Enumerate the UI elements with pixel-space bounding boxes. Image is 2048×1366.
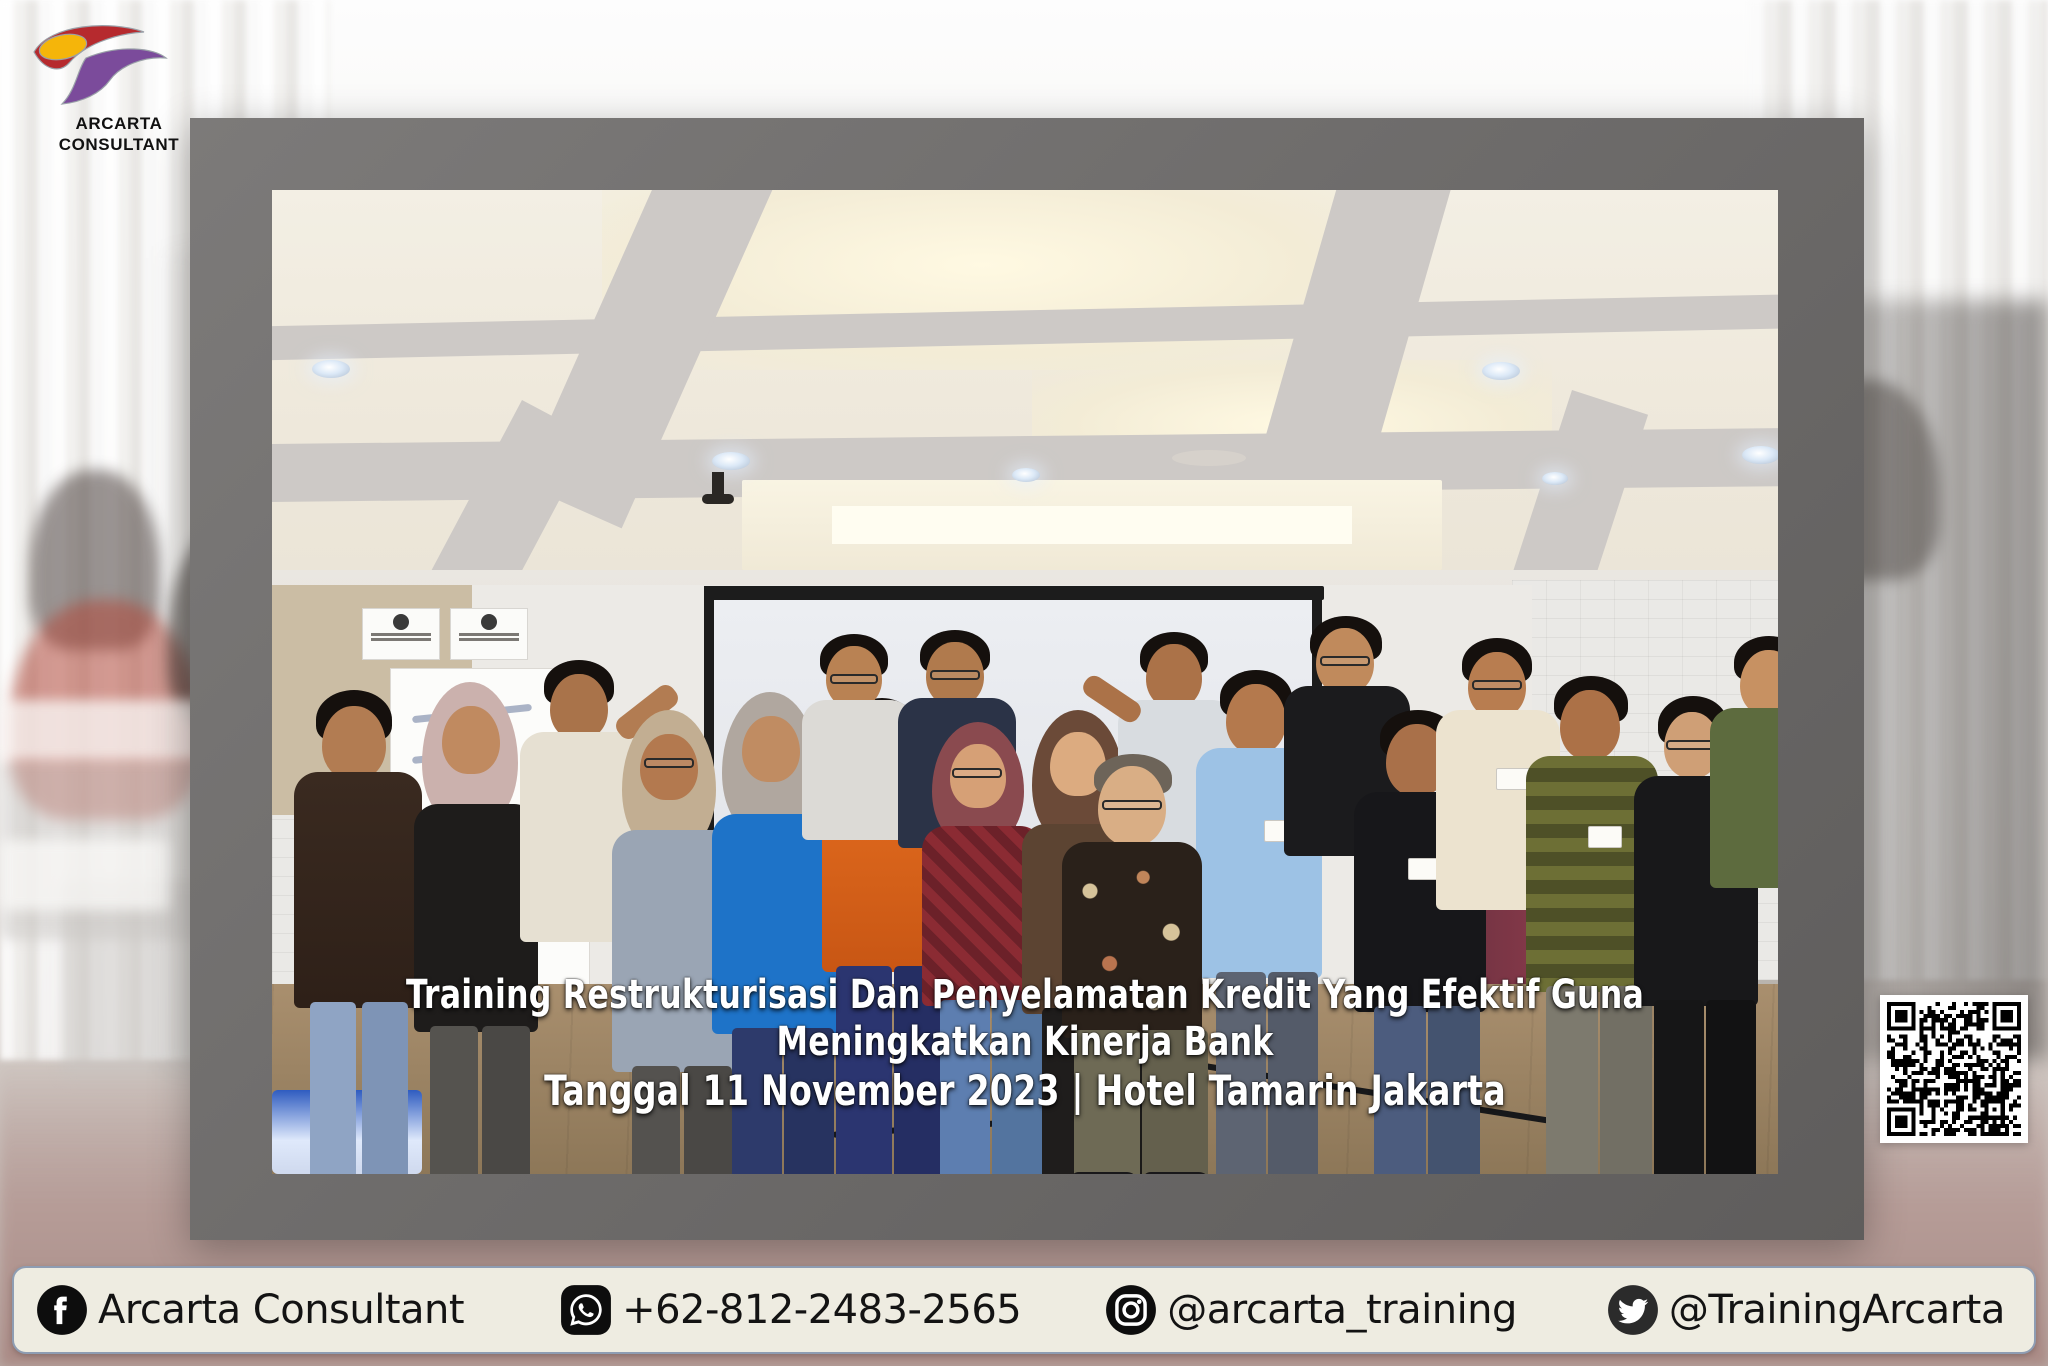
- legs: [940, 1000, 990, 1174]
- torso: [712, 814, 838, 1034]
- wifi-icon: [393, 614, 409, 630]
- arcarta-logo: ARCARTA CONSULTANT: [24, 18, 214, 168]
- wifi-icon: [481, 614, 497, 630]
- head: [442, 706, 500, 774]
- wifi-info-card: [450, 608, 528, 660]
- legs: [1654, 1000, 1704, 1174]
- background-table: [0, 840, 170, 910]
- downlight-icon: [1742, 446, 1778, 464]
- glasses-icon: [644, 758, 694, 768]
- ceiling-panel-inset: [832, 506, 1352, 544]
- footer-item-instagram[interactable]: @arcarta_training: [1105, 1284, 1517, 1336]
- legs: [1546, 986, 1598, 1174]
- downlight-icon: [1012, 468, 1040, 482]
- logo-line-2: CONSULTANT: [59, 135, 180, 154]
- legs: [1600, 986, 1652, 1174]
- legs: [1074, 1030, 1140, 1174]
- torso: [1062, 842, 1202, 1038]
- glasses-icon: [830, 674, 878, 684]
- legs: [310, 1002, 356, 1174]
- glasses-icon: [952, 768, 1002, 778]
- name-badge: [1588, 826, 1622, 848]
- head: [322, 706, 386, 780]
- wifi-password-line: [459, 638, 519, 641]
- footer-item-whatsapp[interactable]: +62-812-2483-2565: [560, 1284, 1021, 1336]
- head: [1146, 644, 1202, 708]
- instagram-icon[interactable]: [1105, 1284, 1157, 1336]
- contact-footer-bar: Arcarta Consultant +62-812-2483-2565 @ar…: [12, 1266, 2036, 1354]
- legs: [992, 1000, 1042, 1174]
- head: [742, 716, 800, 782]
- glasses-icon: [1102, 800, 1162, 810]
- head: [1226, 684, 1286, 754]
- shoe: [1142, 1172, 1210, 1174]
- legs: [784, 1028, 834, 1174]
- legs: [1142, 1030, 1208, 1174]
- glasses-icon: [1472, 680, 1522, 690]
- footer-item-twitter[interactable]: @TrainingArcarta: [1607, 1284, 2005, 1336]
- logo-swoosh-icon: [24, 18, 214, 118]
- legs: [836, 966, 892, 1174]
- legs: [632, 1066, 680, 1174]
- footer-label-facebook: Arcarta Consultant: [98, 1287, 464, 1333]
- shoe: [1070, 1172, 1138, 1174]
- downlight-icon: [712, 452, 750, 470]
- legs: [1428, 1006, 1480, 1174]
- head: [550, 674, 608, 740]
- projector-screen-housing: [704, 586, 1324, 600]
- wifi-info-card: [362, 608, 440, 660]
- footer-label-instagram: @arcarta_training: [1167, 1287, 1517, 1333]
- ceiling-projector-mount: [702, 494, 734, 504]
- torso: [1710, 708, 1778, 888]
- legs: [732, 1028, 782, 1174]
- downlight-icon: [1542, 472, 1568, 485]
- torso: [294, 772, 422, 1008]
- name-badge: [1496, 768, 1530, 790]
- footer-item-facebook[interactable]: Arcarta Consultant: [36, 1284, 464, 1336]
- glasses-icon: [1666, 740, 1716, 750]
- downlight-icon: [1482, 362, 1520, 380]
- facebook-icon[interactable]: [36, 1284, 88, 1336]
- logo-text: ARCARTA CONSULTANT: [24, 114, 214, 155]
- legs: [482, 1026, 530, 1174]
- footer-label-whatsapp: +62-812-2483-2565: [622, 1287, 1021, 1333]
- wifi-password-line: [371, 638, 431, 641]
- legs: [1268, 972, 1318, 1174]
- legs: [1374, 1006, 1426, 1174]
- ac-vent: [1172, 450, 1246, 466]
- legs: [362, 1002, 408, 1174]
- whatsapp-icon[interactable]: [560, 1284, 612, 1336]
- qr-code[interactable]: [1880, 995, 2028, 1143]
- twitter-icon[interactable]: [1607, 1284, 1659, 1336]
- footer-label-twitter: @TrainingArcarta: [1669, 1287, 2005, 1333]
- glasses-icon: [1320, 656, 1370, 666]
- logo-line-1: ARCARTA: [76, 114, 163, 133]
- legs: [1216, 972, 1266, 1174]
- legs: [1706, 1000, 1756, 1174]
- event-photo: Training Restrukturisasi Dan Penyelamata…: [272, 190, 1778, 1174]
- legs: [430, 1026, 478, 1174]
- downlight-icon: [312, 360, 350, 378]
- wifi-ssid-line: [371, 633, 431, 636]
- qr-code-canvas: [1887, 1002, 2021, 1136]
- legs: [684, 1066, 732, 1174]
- head: [1560, 690, 1620, 760]
- glasses-icon: [930, 670, 980, 680]
- wifi-ssid-line: [459, 633, 519, 636]
